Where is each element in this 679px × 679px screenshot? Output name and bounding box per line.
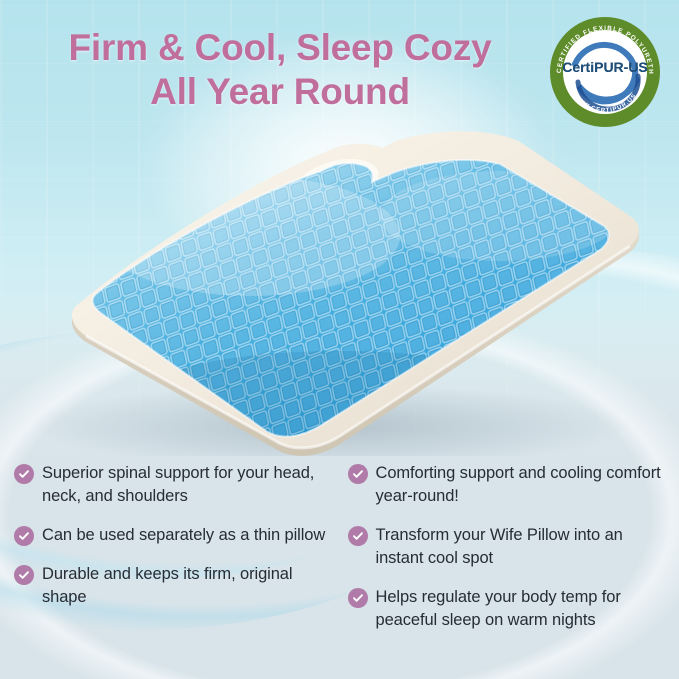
check-circle-icon <box>348 526 368 546</box>
list-item: Can be used separately as a thin pillow <box>14 524 334 547</box>
product-marketing-image: Firm & Cool, Sleep Cozy All Year Round C… <box>0 0 679 679</box>
headline: Firm & Cool, Sleep Cozy All Year Round <box>0 26 560 114</box>
headline-line-2: All Year Round <box>0 70 560 114</box>
list-item: Superior spinal support for your head, n… <box>14 462 334 508</box>
feature-text: Transform your Wife Pillow into an insta… <box>376 524 674 570</box>
feature-column-right: Comforting support and cooling comfort y… <box>340 462 679 679</box>
svg-text:CertiPUR-US: CertiPUR-US <box>562 59 648 75</box>
check-circle-icon <box>14 565 34 585</box>
list-item: Comforting support and cooling comfort y… <box>348 462 674 508</box>
check-circle-icon <box>348 464 368 484</box>
check-circle-icon <box>14 464 34 484</box>
list-item: Durable and keeps its firm, original sha… <box>14 563 334 609</box>
feature-text: Comforting support and cooling comfort y… <box>376 462 674 508</box>
feature-text: Superior spinal support for your head, n… <box>42 462 334 508</box>
check-circle-icon <box>14 526 34 546</box>
feature-text: Can be used separately as a thin pillow <box>42 524 325 547</box>
feature-text: Durable and keeps its firm, original sha… <box>42 563 334 609</box>
headline-line-1: Firm & Cool, Sleep Cozy <box>68 27 491 68</box>
product-photo <box>0 126 679 456</box>
feature-column-left: Superior spinal support for your head, n… <box>0 462 340 679</box>
certipur-us-badge: CertiPUR-US CertiPUR-US CONTAINS CERTIFI… <box>545 12 665 132</box>
check-circle-icon <box>348 588 368 608</box>
feature-list: Superior spinal support for your head, n… <box>0 462 679 679</box>
list-item: Helps regulate your body temp for peacef… <box>348 586 674 632</box>
feature-text: Helps regulate your body temp for peacef… <box>376 586 674 632</box>
list-item: Transform your Wife Pillow into an insta… <box>348 524 674 570</box>
